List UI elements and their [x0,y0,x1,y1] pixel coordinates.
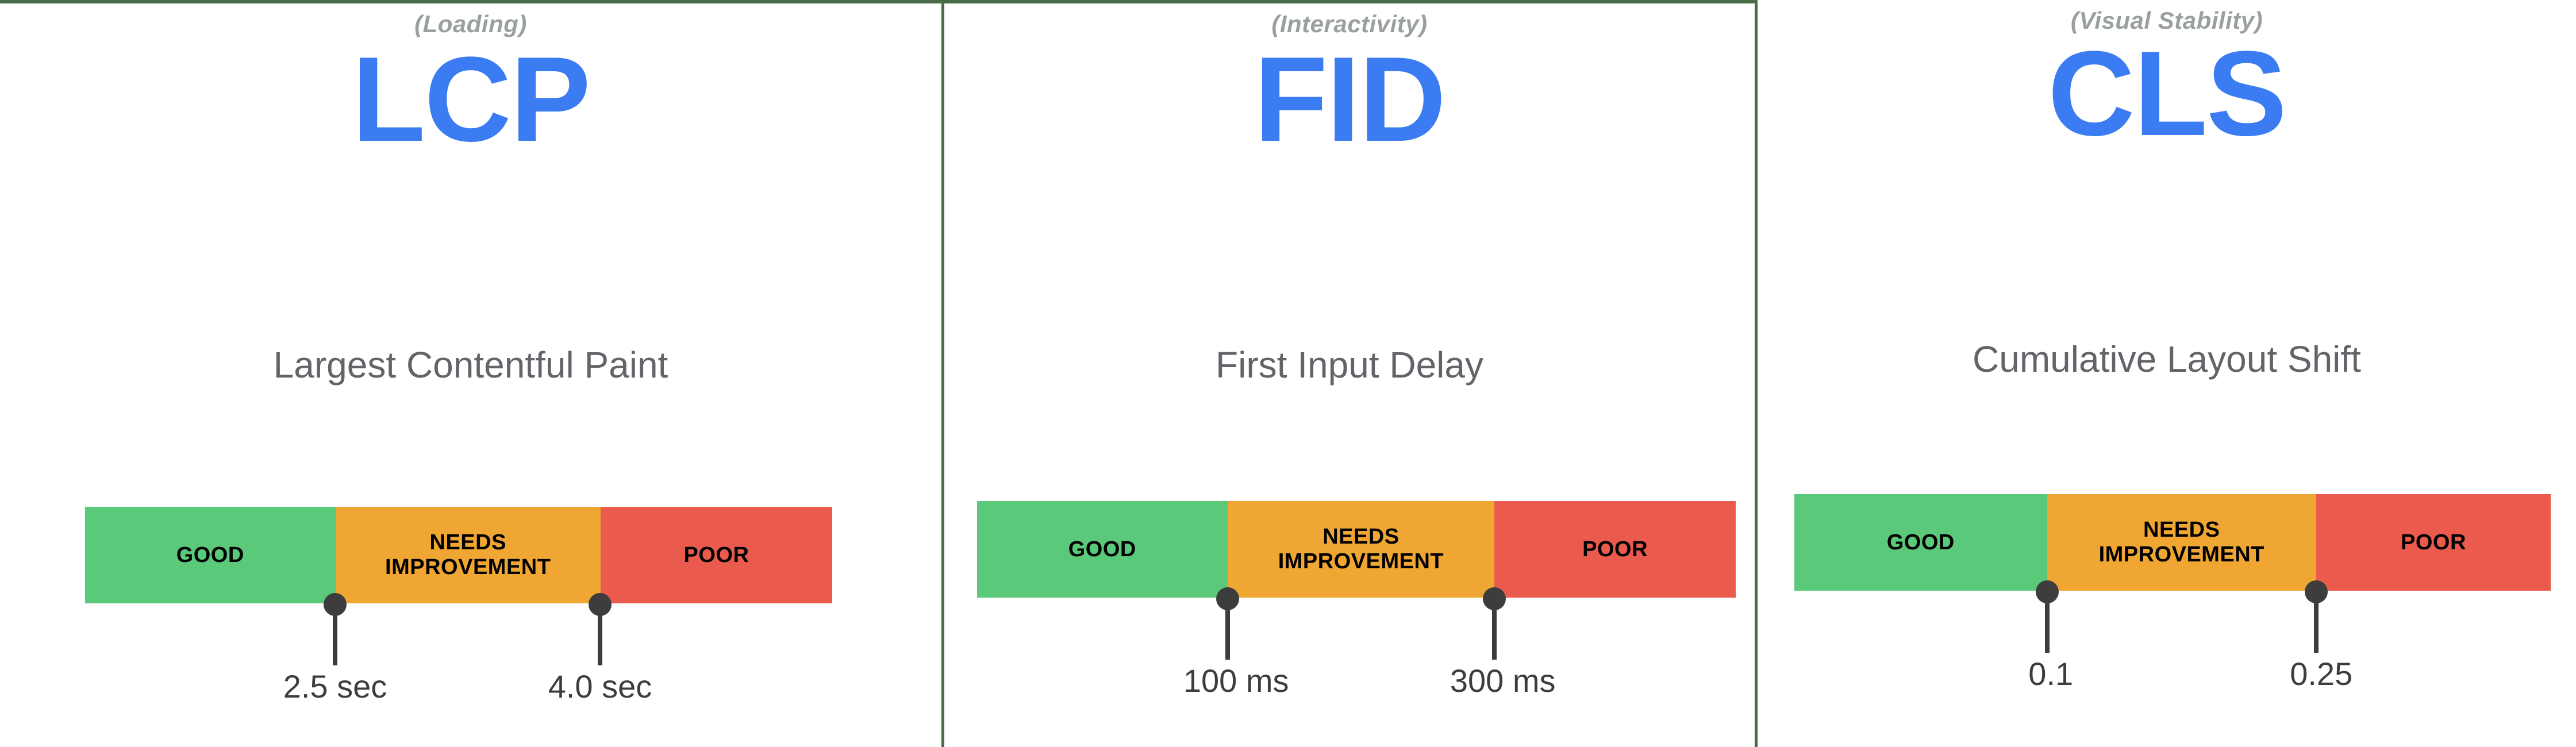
metric-panel-lcp: (Loading) LCP Largest Contentful Paint G… [0,0,941,747]
metric-fullname: Cumulative Layout Shift [1758,338,2576,380]
rating-bar: GOOD NEEDSIMPROVEMENT POOR [977,501,1736,598]
rating-bar: GOOD NEEDSIMPROVEMENT POOR [85,507,832,603]
rating-segment-needs-improvement: NEEDSIMPROVEMENT [2047,494,2316,591]
rating-segment-poor: POOR [601,507,832,603]
threshold-value-label: 4.0 sec [548,668,652,705]
rating-segment-needs-improvement: NEEDSIMPROVEMENT [336,507,601,603]
metric-acronym: FID [944,39,1755,160]
metric-fullname: First Input Delay [944,344,1755,386]
metric-acronym: CLS [1758,33,2576,154]
threshold-dot-icon [1483,587,1506,610]
metric-acronym: LCP [0,39,941,160]
threshold-dot-icon [2036,580,2059,603]
rating-segment-good-label: GOOD [1887,530,1955,555]
rating-segment-good-label: GOOD [176,543,244,568]
core-web-vitals-infographic: (Loading) LCP Largest Contentful Paint G… [0,0,2576,747]
threshold-dot-icon [589,593,612,616]
metric-panel-cls: (Visual Stability) CLS Cumulative Layout… [1758,0,2576,747]
threshold-value-label: 100 ms [1183,662,1289,699]
rating-segment-poor: POOR [2316,494,2551,591]
rating-segment-needs-improvement: NEEDSIMPROVEMENT [1228,501,1495,598]
rating-segment-needs-improvement-label: NEEDSIMPROVEMENT [385,530,551,579]
rating-segment-good: GOOD [1794,494,2047,591]
threshold-value-label: 300 ms [1450,662,1556,699]
metric-fullname: Largest Contentful Paint [0,344,941,386]
threshold-value-label: 0.1 [2028,655,2073,692]
rating-segment-poor: POOR [1494,501,1736,598]
threshold-dot-icon [1216,587,1239,610]
rating-segment-needs-improvement-label: NEEDSIMPROVEMENT [2099,518,2264,567]
rating-segment-poor-label: POOR [2401,530,2466,555]
threshold-dot-icon [2305,580,2328,603]
threshold-dot-icon [324,593,347,616]
rating-segment-good-label: GOOD [1068,537,1136,562]
rating-bar: GOOD NEEDSIMPROVEMENT POOR [1794,494,2551,591]
rating-segment-needs-improvement-label: NEEDSIMPROVEMENT [1278,525,1444,573]
metric-panel-fid: (Interactivity) FID First Input Delay GO… [944,0,1755,747]
rating-segment-poor-label: POOR [1582,537,1648,562]
threshold-value-label: 0.25 [2290,655,2352,692]
rating-segment-poor-label: POOR [684,543,749,568]
rating-segment-good: GOOD [977,501,1228,598]
threshold-value-label: 2.5 sec [283,668,387,705]
rating-segment-good: GOOD [85,507,336,603]
